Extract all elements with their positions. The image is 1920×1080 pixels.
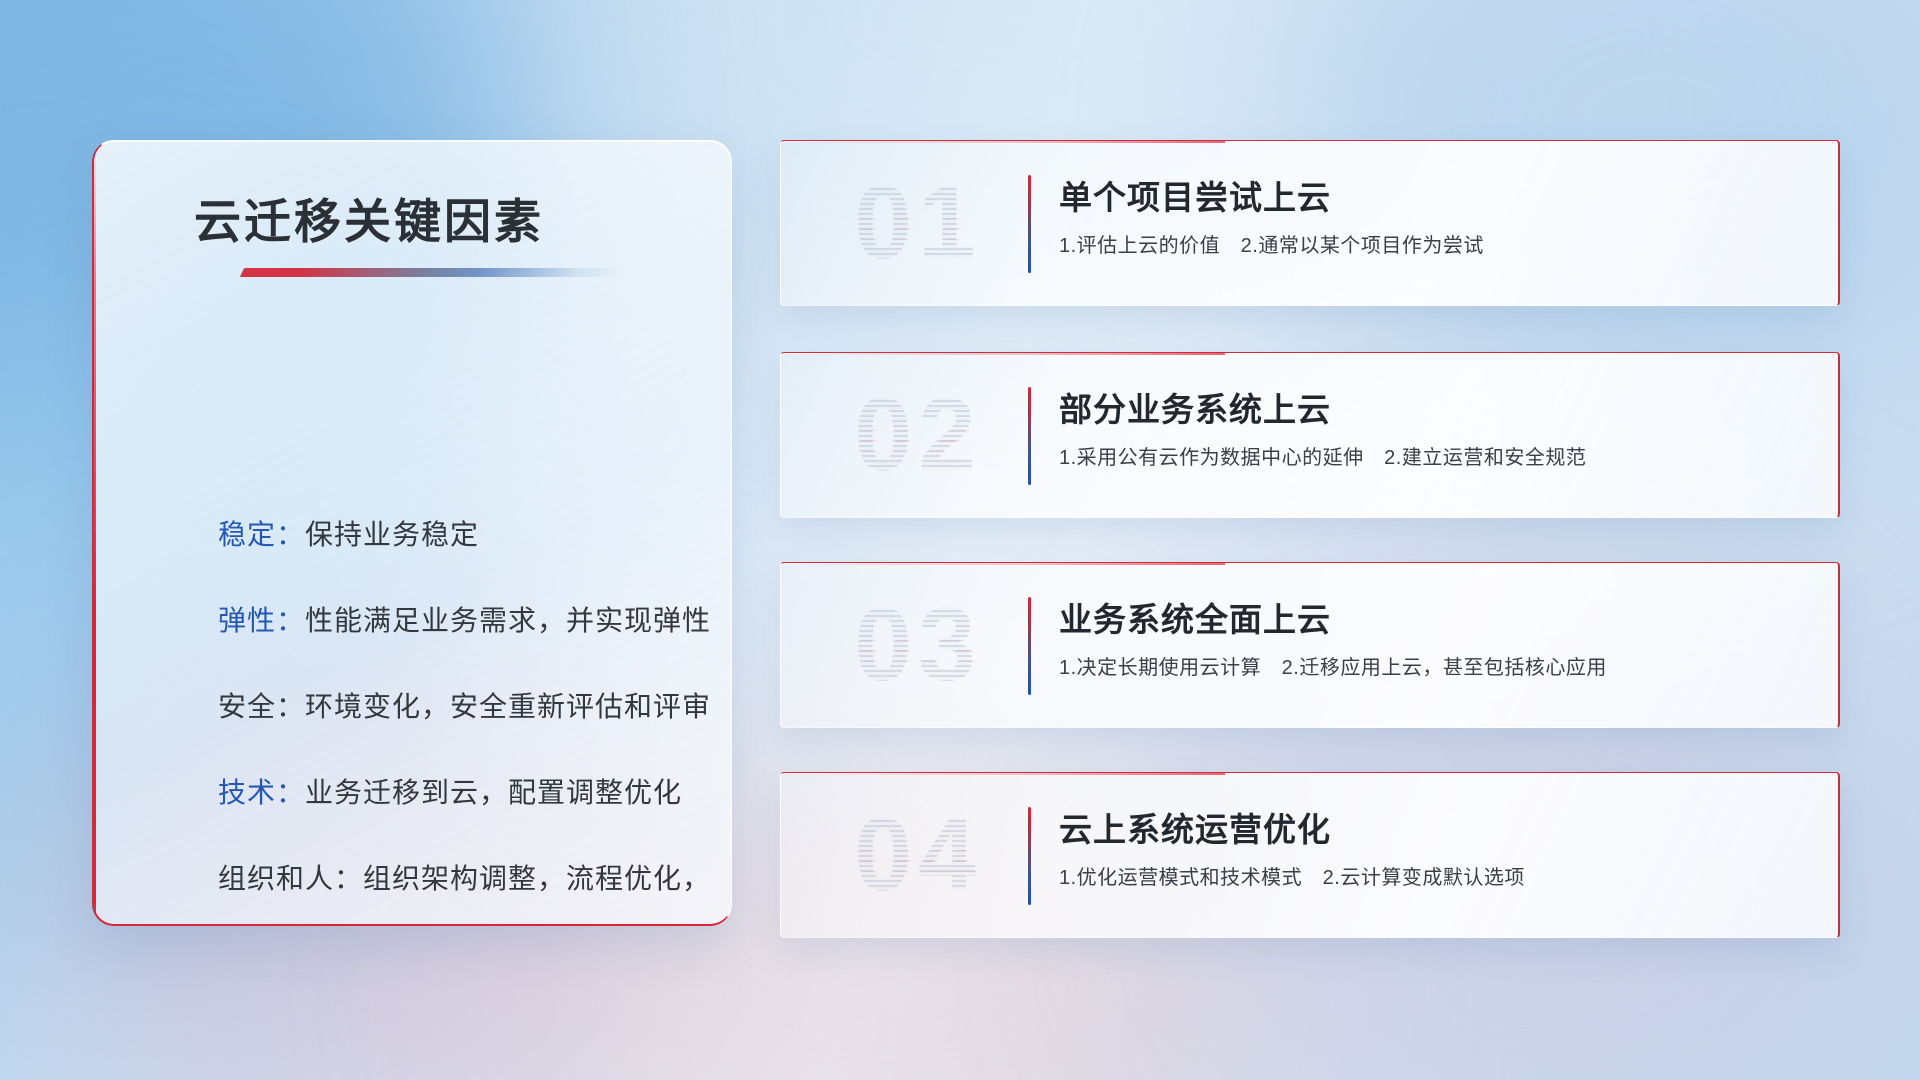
step-number-glyph: 03 bbox=[823, 575, 1013, 715]
panel-title: 云迁移关键因素 bbox=[194, 183, 544, 252]
step-subtitle: 1.优化运营模式和技术模式 2.云计算变成默认选项 bbox=[1059, 861, 1525, 890]
step-card-03[interactable]: 03 业务系统全面上云 1.决定长期使用云计算 2.迁移应用上云，甚至包括核心应… bbox=[780, 562, 1840, 728]
factor-label: 安全： bbox=[218, 691, 305, 722]
step-title: 单个项目尝试上云 bbox=[1059, 171, 1331, 219]
step-title: 部分业务系统上云 bbox=[1059, 383, 1331, 431]
factor-label: 技术： bbox=[218, 777, 305, 808]
step-number-glyph: 04 bbox=[823, 785, 1013, 925]
step-subtitle: 1.采用公有云作为数据中心的延伸 2.建立运营和安全规范 bbox=[1059, 441, 1586, 470]
list-item: 弹性：性能满足业务需求，并实现弹性 bbox=[218, 599, 732, 639]
factor-label: 稳定： bbox=[218, 519, 305, 550]
step-divider-bar bbox=[1028, 387, 1031, 485]
step-title: 云上系统运营优化 bbox=[1059, 803, 1331, 851]
step-card-04[interactable]: 04 云上系统运营优化 1.优化运营模式和技术模式 2.云计算变成默认选项 bbox=[780, 772, 1840, 938]
step-number-glyph: 01 bbox=[823, 153, 1013, 293]
step-number-glyph: 02 bbox=[823, 365, 1013, 505]
step-subtitle: 1.评估上云的价值 2.通常以某个项目作为尝试 bbox=[1059, 229, 1484, 258]
step-divider-bar bbox=[1028, 597, 1031, 695]
list-item: 技术：业务迁移到云，配置调整优化 bbox=[218, 771, 732, 811]
step-title: 业务系统全面上云 bbox=[1059, 593, 1331, 641]
list-item: 安全：环境变化，安全重新评估和评审 bbox=[218, 685, 732, 725]
title-underline-gradient bbox=[240, 268, 624, 277]
factor-label: 组织和人： bbox=[218, 863, 363, 894]
slide-stage: 云迁移关键因素 稳定：保持业务稳定 弹性：性能满足业务需求，并实现弹性 安全：环… bbox=[0, 0, 1920, 1080]
key-factors-panel: 云迁移关键因素 稳定：保持业务稳定 弹性：性能满足业务需求，并实现弹性 安全：环… bbox=[92, 140, 732, 926]
factor-text: 性能满足业务需求，并实现弹性 bbox=[305, 605, 711, 636]
factor-label: 弹性： bbox=[218, 605, 305, 636]
step-subtitle: 1.决定长期使用云计算 2.迁移应用上云，甚至包括核心应用 bbox=[1059, 651, 1607, 680]
list-item: 稳定：保持业务稳定 bbox=[218, 513, 732, 553]
step-card-01[interactable]: 01 单个项目尝试上云 1.评估上云的价值 2.通常以某个项目作为尝试 bbox=[780, 140, 1840, 306]
list-item: 组织和人：组织架构调整，流程优化， bbox=[218, 857, 732, 897]
factor-text: 业务迁移到云，配置调整优化 bbox=[305, 777, 682, 808]
step-divider-bar bbox=[1028, 807, 1031, 905]
factor-text: 保持业务稳定 bbox=[305, 519, 479, 550]
factor-text: 环境变化，安全重新评估和评审 bbox=[305, 691, 711, 722]
step-card-02[interactable]: 02 部分业务系统上云 1.采用公有云作为数据中心的延伸 2.建立运营和安全规范 bbox=[780, 352, 1840, 518]
factor-text: 组织架构调整，流程优化， bbox=[363, 863, 711, 894]
key-factors-list: 稳定：保持业务稳定 弹性：性能满足业务需求，并实现弹性 安全：环境变化，安全重新… bbox=[218, 513, 732, 926]
step-divider-bar bbox=[1028, 175, 1031, 273]
